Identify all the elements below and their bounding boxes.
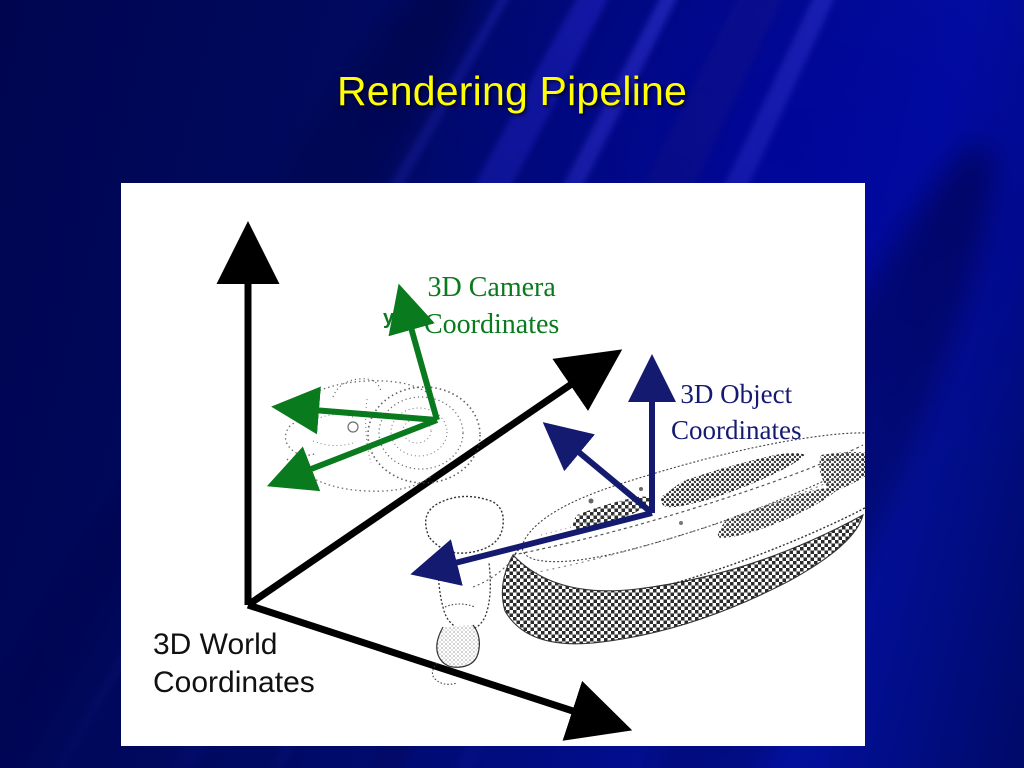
slide: Rendering Pipeline <box>0 0 1024 768</box>
object-coordinates-label: 3D Object Coordinates <box>671 377 801 449</box>
slide-title: Rendering Pipeline <box>0 68 1024 115</box>
camera-illustration <box>285 379 480 491</box>
object-axis-z-label: z <box>564 431 570 443</box>
camera-axes <box>306 324 437 471</box>
camera-axis-z-label: z <box>287 395 297 418</box>
object-axis-y-label: y <box>651 378 657 390</box>
object-label-line2: Coordinates <box>671 413 801 449</box>
camera-label-line2: Coordinates <box>424 306 559 343</box>
camera-axis-x <box>306 420 437 471</box>
camera-coordinates-label: 3D Camera Coordinates <box>424 269 559 343</box>
world-coordinates-label: 3D World Coordinates <box>153 626 315 703</box>
world-label-line2: Coordinates <box>153 664 315 702</box>
camera-axis-y-label: y <box>383 307 394 330</box>
object-axis-x-label: x <box>434 563 440 575</box>
figure-panel: 3D World Coordinates 3D Camera Coordinat… <box>121 183 865 746</box>
boat-illustration <box>426 433 865 684</box>
object-label-line1: 3D Object <box>671 377 801 413</box>
world-label-line1: 3D World <box>153 626 315 664</box>
camera-label-line1: 3D Camera <box>424 269 559 306</box>
camera-axis-z <box>313 410 437 420</box>
camera-axis-x-label: x <box>303 461 314 484</box>
